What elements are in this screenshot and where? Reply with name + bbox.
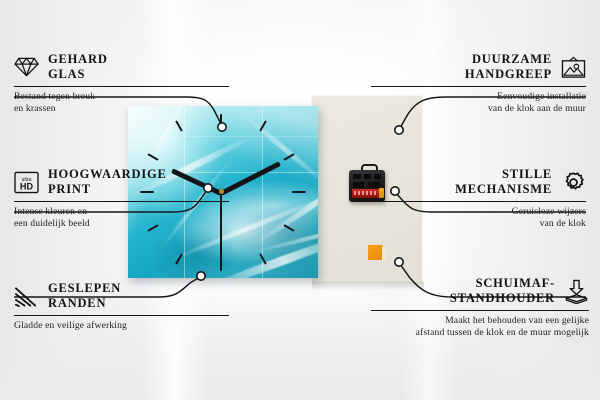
feature-subtitle-line2: van de klok bbox=[371, 218, 586, 231]
feature-schuimaf-standhouder[interactable]: SCHUIMAF- STANDHOUDER Maakt het behouden… bbox=[371, 276, 589, 340]
beveled-edges-icon bbox=[14, 284, 39, 309]
feature-subtitle-line1: Bestand tegen breuk bbox=[14, 91, 229, 104]
feature-title-line1: GEHARD bbox=[48, 52, 108, 66]
feature-title-line2: MECHANISME bbox=[455, 182, 552, 196]
feature-title-line1: SCHUIMAF- bbox=[476, 276, 555, 290]
feature-title-line1: STILLE bbox=[502, 167, 552, 181]
diamond-icon bbox=[14, 55, 39, 80]
feature-hoogwaardige-print[interactable]: ultra HD HOOGWAARDIGE PRINT Intense kleu… bbox=[14, 167, 229, 231]
feature-title-line2: HANDGREEP bbox=[465, 67, 552, 81]
foam-spacer-pad bbox=[368, 245, 383, 260]
feature-divider bbox=[371, 310, 589, 311]
feature-subtitle-line1: Intense kleuren en bbox=[14, 206, 229, 219]
feature-subtitle-line2: en krassen bbox=[14, 103, 229, 116]
foam-spacer-pad-side bbox=[382, 247, 386, 261]
feature-subtitle-line2: een duidelijk beeld bbox=[14, 218, 229, 231]
feature-title-line2: PRINT bbox=[48, 182, 91, 196]
feature-subtitle-line1: Maakt het behouden van een gelijke bbox=[371, 315, 589, 328]
feature-divider bbox=[14, 86, 229, 87]
picture-frame-icon bbox=[561, 55, 586, 80]
feature-subtitle-line1: Eenvoudige installatie bbox=[371, 91, 586, 104]
feature-gehard-glas[interactable]: GEHARD GLAS Bestand tegen breuk en krass… bbox=[14, 52, 229, 116]
feature-subtitle-line1: Gladde en veilige afwerking bbox=[14, 320, 229, 333]
feature-subtitle-line2: van de klok aan de muur bbox=[371, 103, 586, 116]
feature-divider bbox=[14, 201, 229, 202]
feature-title-line2: RANDEN bbox=[48, 296, 106, 310]
down-arrow-platform-icon bbox=[564, 279, 589, 304]
svg-text:HD: HD bbox=[20, 181, 34, 191]
feature-title-line1: HOOGWAARDIGE bbox=[48, 167, 167, 181]
infographic-canvas: GEHARD GLAS Bestand tegen breuk en krass… bbox=[0, 0, 600, 400]
ultra-hd-icon: ultra HD bbox=[14, 170, 39, 195]
feature-title-line2: STANDHOUDER bbox=[450, 291, 555, 305]
feature-title-line1: GESLEPEN bbox=[48, 281, 121, 295]
feature-geslepen-randen[interactable]: GESLEPEN RANDEN Gladde en veilige afwerk… bbox=[14, 281, 229, 332]
feature-subtitle-line2: afstand tussen de klok en de muur mogeli… bbox=[371, 327, 589, 340]
feature-divider bbox=[371, 201, 586, 202]
feature-divider bbox=[371, 86, 586, 87]
feature-title-line2: GLAS bbox=[48, 67, 85, 81]
feature-subtitle-line1: Geruisloze wijzers bbox=[371, 206, 586, 219]
gear-icon bbox=[561, 170, 586, 195]
feature-title-line1: DUURZAME bbox=[472, 52, 552, 66]
feature-duurzame-handgreep[interactable]: DUURZAME HANDGREEP Eenvoudige installati… bbox=[371, 52, 586, 116]
feature-stille-mechanisme[interactable]: STILLE MECHANISME Geruisloze wijzers van… bbox=[371, 167, 586, 231]
feature-divider bbox=[14, 315, 229, 316]
